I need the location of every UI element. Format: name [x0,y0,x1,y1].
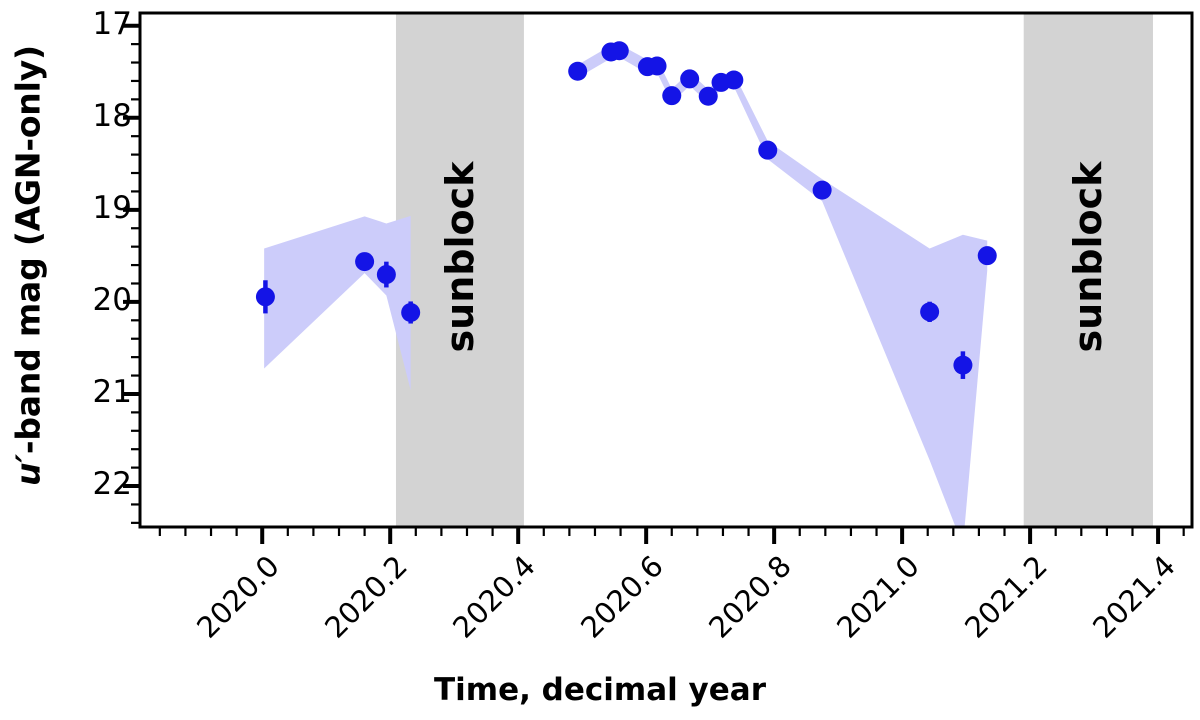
data-point-8 [648,57,667,76]
y-tick-label-2: 19 [42,193,132,224]
y-axis-label: u′-band mag (AGN-only) [9,6,48,526]
data-point-1 [355,252,374,271]
data-point-13 [724,71,743,90]
y-tick-label-3: 20 [42,285,132,316]
data-point-4 [568,62,587,81]
data-point-16 [920,302,939,321]
data-point-15 [813,181,832,200]
x-axis-label: Time, decimal year [0,672,1200,708]
data-point-6 [610,41,629,60]
shaded-region-group [396,15,1153,526]
confidence-band-group [264,44,987,546]
y-axis-label-italic-part: u′ [9,454,48,486]
y-axis-label-rest: -band mag (AGN-only) [9,45,48,454]
y-tick-label-5: 22 [42,469,132,500]
band-segment-left [264,216,411,390]
sunblock-label-1: sunblock [1066,107,1110,407]
data-point-0 [256,287,275,306]
data-point-3 [401,303,420,322]
band-segment-right [578,44,988,546]
figure-canvas: 171819202122 2020.02020.22020.42020.6202… [0,0,1200,720]
data-point-18 [978,246,997,265]
data-point-2 [377,265,396,284]
data-point-17 [953,356,972,375]
data-point-14 [758,141,777,160]
data-point-9 [662,86,681,105]
data-point-10 [680,69,699,88]
y-tick-label-0: 17 [42,9,132,40]
sunblock-label-0: sunblock [438,107,482,407]
y-tick-label-1: 18 [42,101,132,132]
y-tick-label-4: 21 [42,377,132,408]
